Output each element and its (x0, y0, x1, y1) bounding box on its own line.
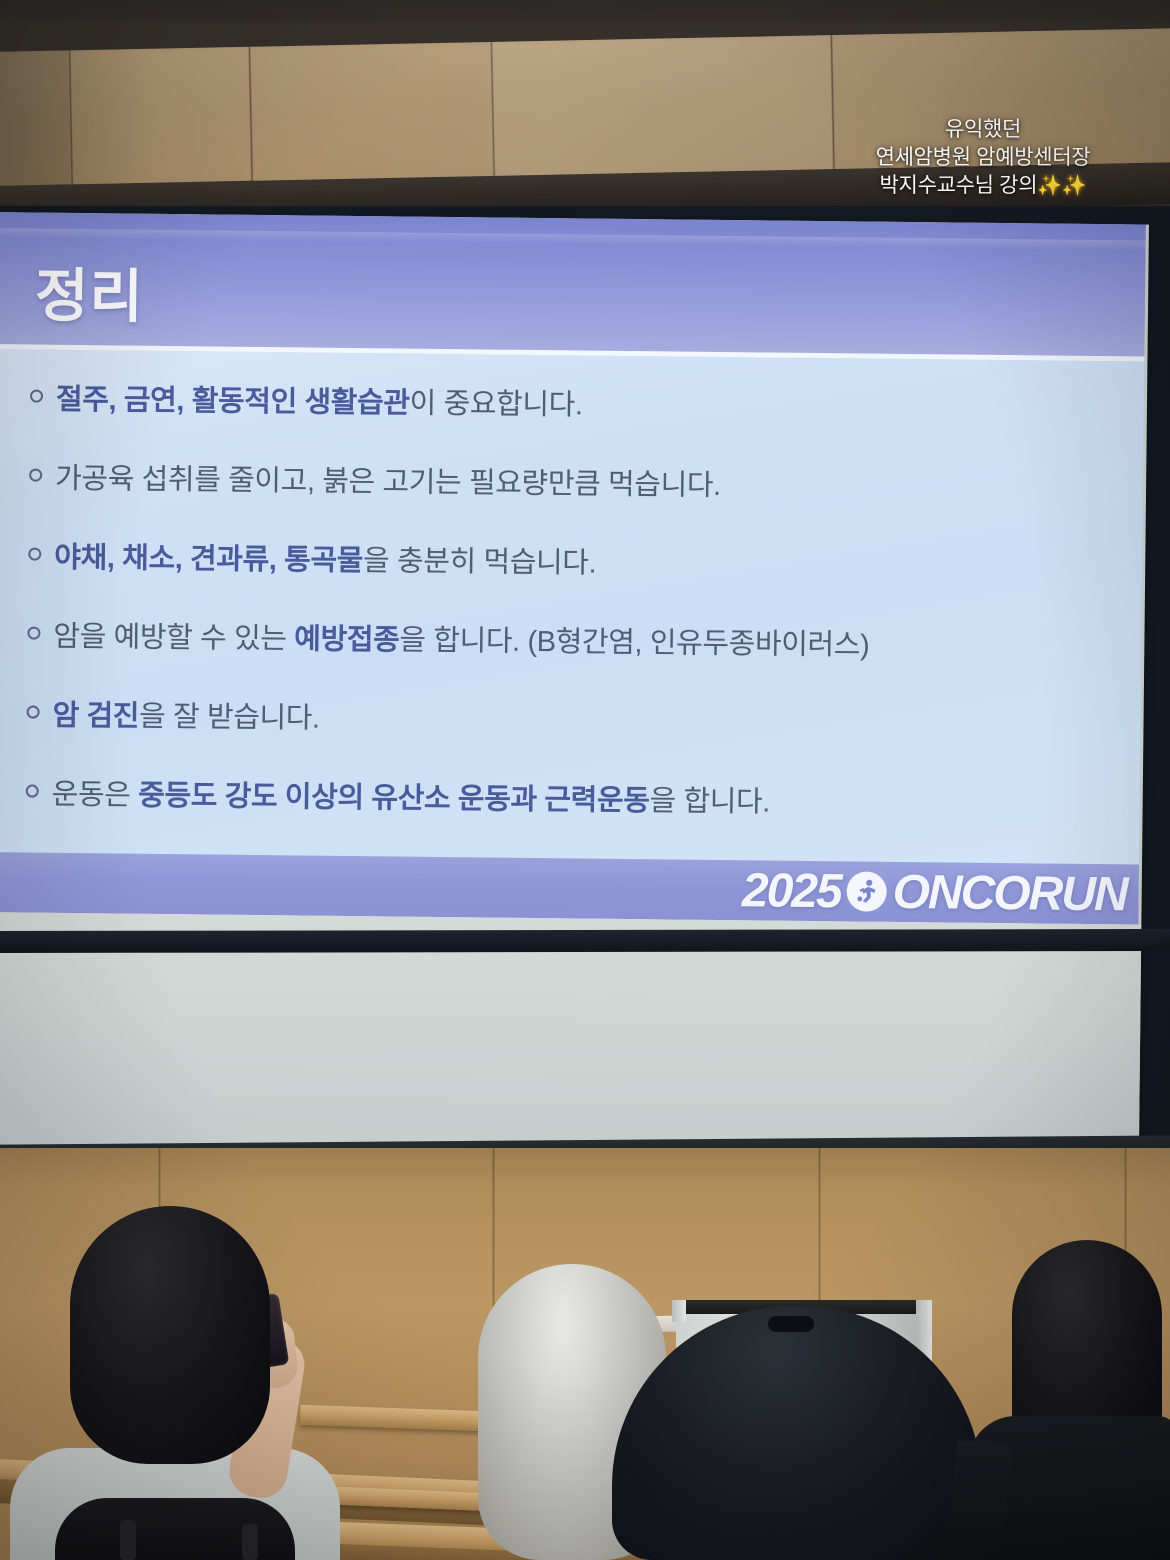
slide-body: 절주, 금연, 활동적인 생활습관이 중요합니다. 가공육 섭취를 줄이고, 붉… (0, 349, 1144, 865)
bullet-regular-text: 을 합니다. (649, 785, 770, 818)
caption-line-3: 박지수교수님 강의✨✨ (818, 172, 1148, 200)
presentation-slide: 정리 절주, 금연, 활동적인 생활습관이 중요합니다. 가공육 섭취를 줄이고… (0, 212, 1146, 925)
backpack-strap (120, 1520, 136, 1560)
bullet-bold-text: 야채, 채소, 견과류, 통곡물 (54, 542, 363, 577)
bullet-item: 절주, 금연, 활동적인 생활습관이 중요합니다. (30, 376, 1130, 430)
cap-button-icon (768, 1316, 814, 1332)
bullet-item: 암을 예방할 수 있는 예방접종을 합니다. (B형간염, 인유두종바이러스) (27, 612, 1127, 666)
bullet-prefix-text: 암을 예방할 수 있는 (53, 621, 294, 656)
backpack-strap (242, 1524, 258, 1560)
projection-screen: 정리 절주, 금연, 활동적인 생활습관이 중요합니다. 가공육 섭취를 줄이고… (0, 212, 1149, 1160)
logo-brand: ONCORUN (892, 864, 1127, 922)
photo-scene: 유익했던 연세암병원 암예방센터장 박지수교수님 강의✨✨ 정리 절주, 금연,… (0, 0, 1170, 1560)
oncorun-logo: 2025 ONCORUN (742, 862, 1127, 922)
caption-line-1: 유익했던 (818, 116, 1148, 144)
slide-title: 정리 (35, 249, 145, 334)
band-highlight (0, 228, 1146, 251)
bullet-dot-icon (27, 626, 40, 639)
bullet-prefix-text: 운동은 (52, 779, 139, 812)
bullet-dot-icon (29, 469, 42, 482)
slide-title-band (0, 212, 1146, 359)
bullet-dot-icon (30, 390, 43, 403)
caption-line-2: 연세암병원 암예방센터장 (818, 144, 1148, 172)
logo-year: 2025 (742, 863, 841, 919)
bullet-dot-icon (26, 784, 39, 797)
audience-head (70, 1206, 270, 1464)
bullet-regular-text: 을 합니다. (B형간염, 인유두종바이러스) (399, 625, 869, 662)
photo-caption: 유익했던 연세암병원 암예방센터장 박지수교수님 강의✨✨ (818, 116, 1148, 200)
bullet-item: 암 검진을 잘 받습니다. (26, 691, 1126, 745)
bullet-dot-icon (28, 547, 41, 560)
lower-wall (0, 1148, 1170, 1560)
runner-icon (846, 871, 886, 911)
screen-bottom-edge (0, 929, 1170, 953)
bullet-regular-text: 이 중요합니다. (409, 388, 582, 422)
bullet-bold-text: 절주, 금연, 활동적인 생활습관 (56, 384, 410, 420)
sparkles-icon: ✨✨ (1037, 175, 1086, 197)
bullet-regular-text: 가공육 섭취를 줄이고, 붉은 고기는 필요량만큼 먹습니다. (55, 463, 721, 502)
bullet-item: 야채, 채소, 견과류, 통곡물을 충분히 먹습니다. (28, 534, 1128, 588)
bullet-item: 가공육 섭취를 줄이고, 붉은 고기는 필요량만큼 먹습니다. (29, 455, 1129, 509)
audience-vest (55, 1498, 295, 1560)
bullet-regular-text: 을 충분히 먹습니다. (363, 545, 597, 580)
bullet-bold-text: 예방접종 (294, 623, 399, 656)
bullet-item: 운동은 중등도 강도 이상의 유산소 운동과 근력운동을 합니다. (26, 770, 1126, 824)
podium-leg (672, 1300, 686, 1322)
bullet-bold-text: 암 검진 (52, 700, 139, 733)
bullet-bold-text: 중등도 강도 이상의 유산소 운동과 근력운동 (138, 780, 650, 818)
bullet-list: 절주, 금연, 활동적인 생활습관이 중요합니다. 가공육 섭취를 줄이고, 붉… (25, 376, 1130, 862)
bullet-regular-text: 을 잘 받습니다. (139, 701, 320, 735)
bullet-dot-icon (27, 705, 40, 718)
